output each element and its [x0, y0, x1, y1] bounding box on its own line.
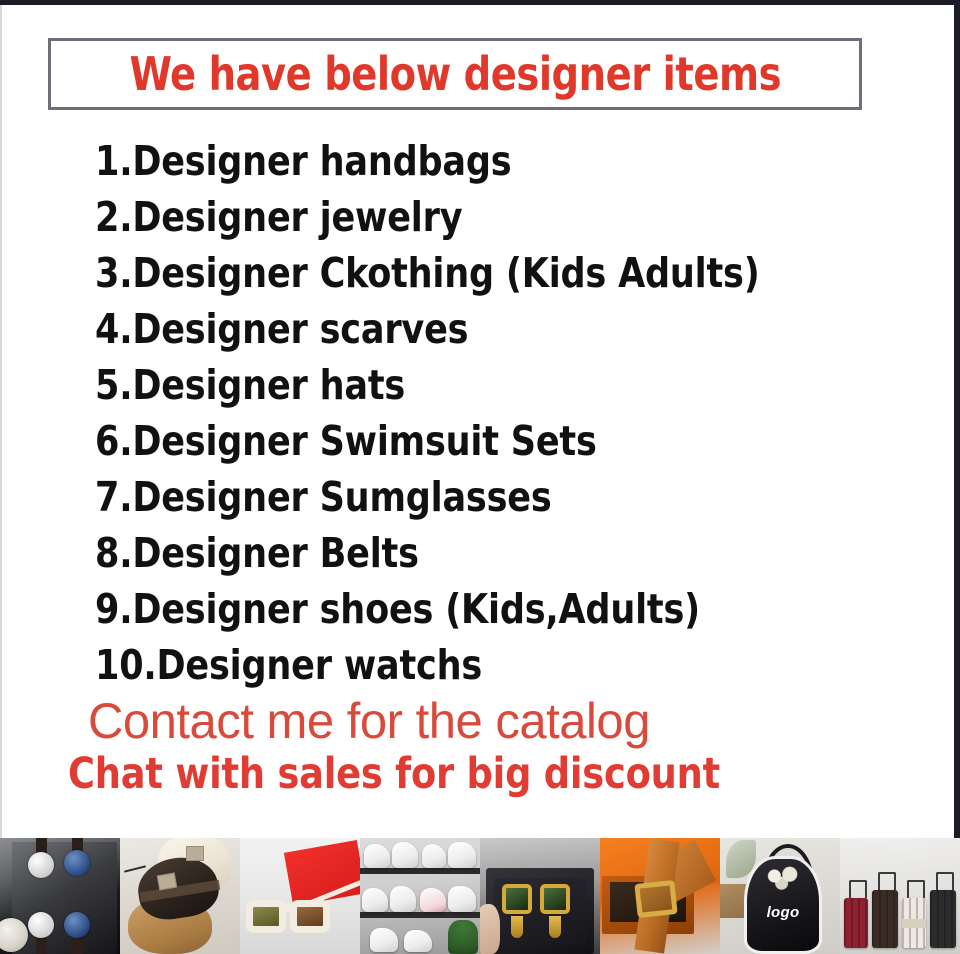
- sunglasses-lens-left: [246, 900, 286, 933]
- list-item: 7.Designer Sumglasses: [95, 469, 874, 525]
- flowers-in-bag: [760, 864, 808, 894]
- list-item: 9.Designer shoes (Kids,Adults): [95, 581, 874, 637]
- flyer-page: We have below designer items 1.Designer …: [0, 0, 960, 954]
- handbag-logo-text: logo: [752, 904, 814, 921]
- photo-cell-sunglasses: [240, 838, 360, 954]
- list-item: 6.Designer Swimsuit Sets: [95, 413, 874, 469]
- belt-buckle: [634, 880, 677, 918]
- sneaker: [448, 842, 476, 868]
- shoe-shelf: [360, 912, 480, 918]
- hat-tag: [157, 873, 177, 891]
- earring-post: [549, 916, 561, 938]
- suitcase-handle: [878, 872, 896, 890]
- watch-dial: [28, 912, 54, 938]
- frame-left-border: [0, 5, 2, 838]
- headline-banner: We have below designer items: [48, 38, 862, 110]
- list-item: 5.Designer hats: [95, 357, 874, 413]
- sneaker: [448, 886, 476, 912]
- photo-cell-earrings: [480, 838, 600, 954]
- earring-stone: [540, 884, 570, 914]
- headline-text: We have below designer items: [129, 51, 781, 97]
- photo-cell-sneakers: [360, 838, 480, 954]
- sneaker: [422, 844, 446, 868]
- photo-cell-luggage: [840, 838, 960, 954]
- potted-plant: [448, 920, 478, 954]
- suitcase-band: [902, 919, 926, 928]
- watch-strap: [72, 936, 83, 954]
- list-item: 4.Designer scarves: [95, 301, 874, 357]
- sunglasses-lens-right: [290, 900, 330, 933]
- suitcase-handle: [849, 880, 867, 898]
- list-item: 3.Designer Ckothing (Kids Adults): [95, 245, 874, 301]
- watch-strap: [36, 936, 47, 954]
- photo-cell-belt: [600, 838, 720, 954]
- suitcase-handle: [907, 880, 925, 898]
- frame-right-border: [954, 0, 960, 838]
- sneaker: [392, 842, 418, 868]
- earring-post: [511, 916, 523, 938]
- sneaker: [364, 844, 390, 868]
- suitcase-handle: [936, 872, 954, 890]
- frame-top-border: [0, 0, 960, 5]
- list-item: 1.Designer handbags: [95, 133, 874, 189]
- list-item: 8.Designer Belts: [95, 525, 874, 581]
- sneaker: [370, 928, 398, 952]
- suitcase: [844, 898, 868, 948]
- hat-tag: [186, 846, 204, 861]
- photo-cell-hats: [120, 838, 240, 954]
- contact-catalog-text: Contact me for the catalog: [88, 692, 650, 750]
- sneaker: [404, 930, 432, 952]
- product-photo-strip: logo: [0, 838, 960, 954]
- sneaker: [362, 888, 388, 912]
- shoe-shelf: [360, 868, 480, 874]
- chat-discount-text: Chat with sales for big discount: [68, 748, 720, 800]
- photo-cell-watches: [0, 838, 120, 954]
- suitcase: [872, 890, 898, 948]
- sneaker: [390, 886, 416, 912]
- product-list: 1.Designer handbags 2.Designer jewelry 3…: [95, 133, 915, 693]
- suitcase: [930, 890, 956, 948]
- earring-stone: [502, 884, 532, 914]
- sneaker: [420, 888, 446, 912]
- watch-dial: [28, 852, 54, 878]
- photo-cell-handbag: logo: [720, 838, 840, 954]
- list-item: 10.Designer watchs: [95, 637, 874, 693]
- watch-dial: [64, 912, 90, 938]
- hand: [480, 904, 500, 954]
- watch-dial: [64, 850, 90, 876]
- list-item: 2.Designer jewelry: [95, 189, 874, 245]
- hat-pin: [124, 865, 146, 872]
